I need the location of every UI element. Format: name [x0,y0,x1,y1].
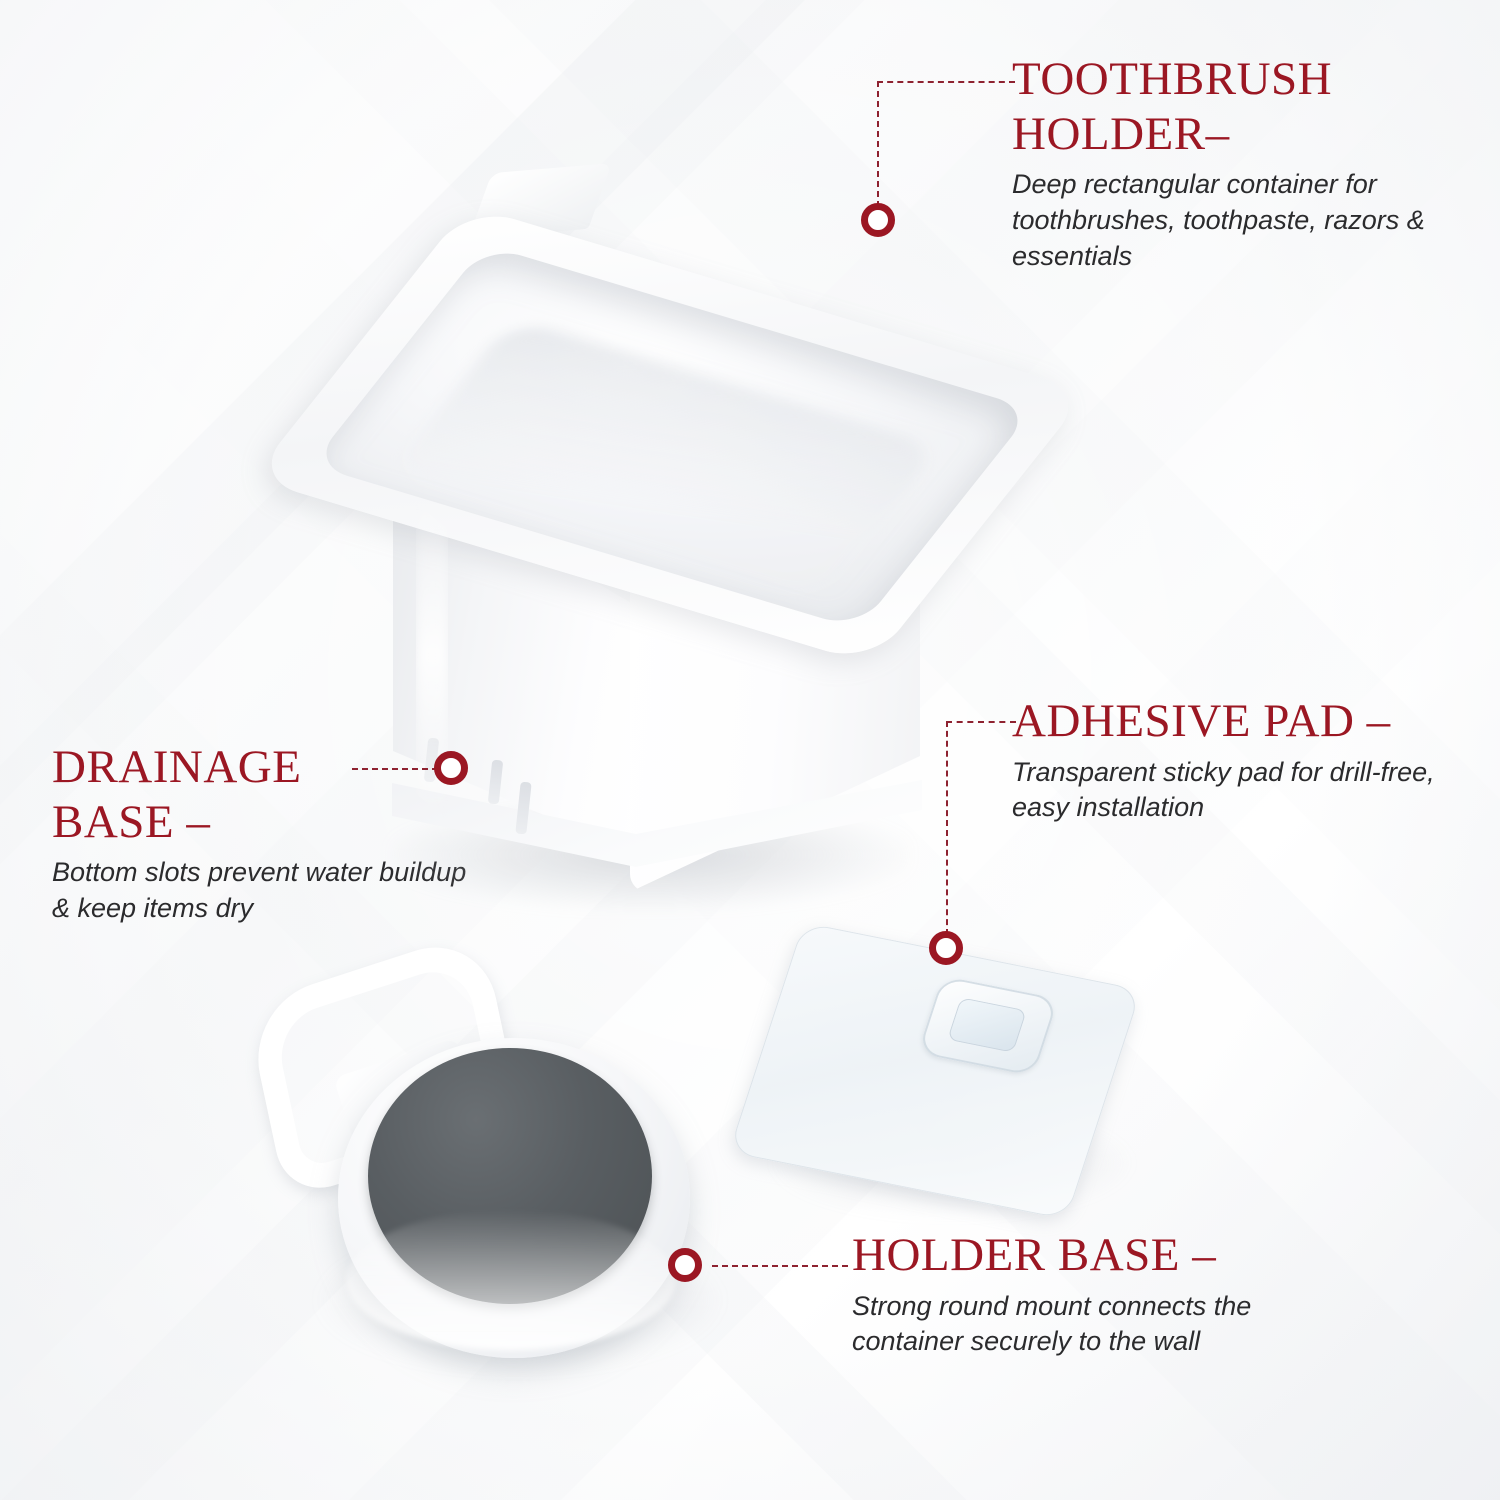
connector-holder-horizontal [712,1265,848,1267]
marker-holder-base[interactable] [668,1248,702,1282]
callout-title-toothbrush-holder: TOOTHBRUSH HOLDER– [1012,52,1452,161]
connector-drainage-horizontal [352,768,438,770]
infographic-page: TOOTHBRUSH HOLDER– Deep rectangular cont… [0,0,1500,1500]
marker-adhesive-pad[interactable] [929,931,963,965]
callout-desc-toothbrush-holder: Deep rectangular container for toothbrus… [1012,167,1452,275]
toothbrush-holder-container [330,110,1030,900]
marker-drainage-base[interactable] [434,751,468,785]
marker-toothbrush-holder[interactable] [861,203,895,237]
connector-adhesive-horizontal [946,721,1016,723]
callout-toothbrush-holder: TOOTHBRUSH HOLDER– Deep rectangular cont… [1012,52,1452,275]
connector-toothbrush-vertical [877,81,879,207]
adhesive-pad [748,940,1168,1230]
callout-title-holder-base: HOLDER BASE – [852,1228,1292,1283]
callout-desc-holder-base: Strong round mount connects the containe… [852,1289,1292,1361]
holder-base-rim-highlight [346,1210,676,1350]
callout-title-adhesive-pad: ADHESIVE PAD – [1012,694,1482,749]
callout-desc-adhesive-pad: Transparent sticky pad for drill-free, e… [1012,755,1482,827]
callout-holder-base: HOLDER BASE – Strong round mount connect… [852,1228,1292,1360]
connector-toothbrush-horizontal [877,81,1015,83]
callout-adhesive-pad: ADHESIVE PAD – Transparent sticky pad fo… [1012,694,1482,826]
holder-base-disc [250,960,750,1400]
connector-adhesive-vertical [946,721,948,935]
